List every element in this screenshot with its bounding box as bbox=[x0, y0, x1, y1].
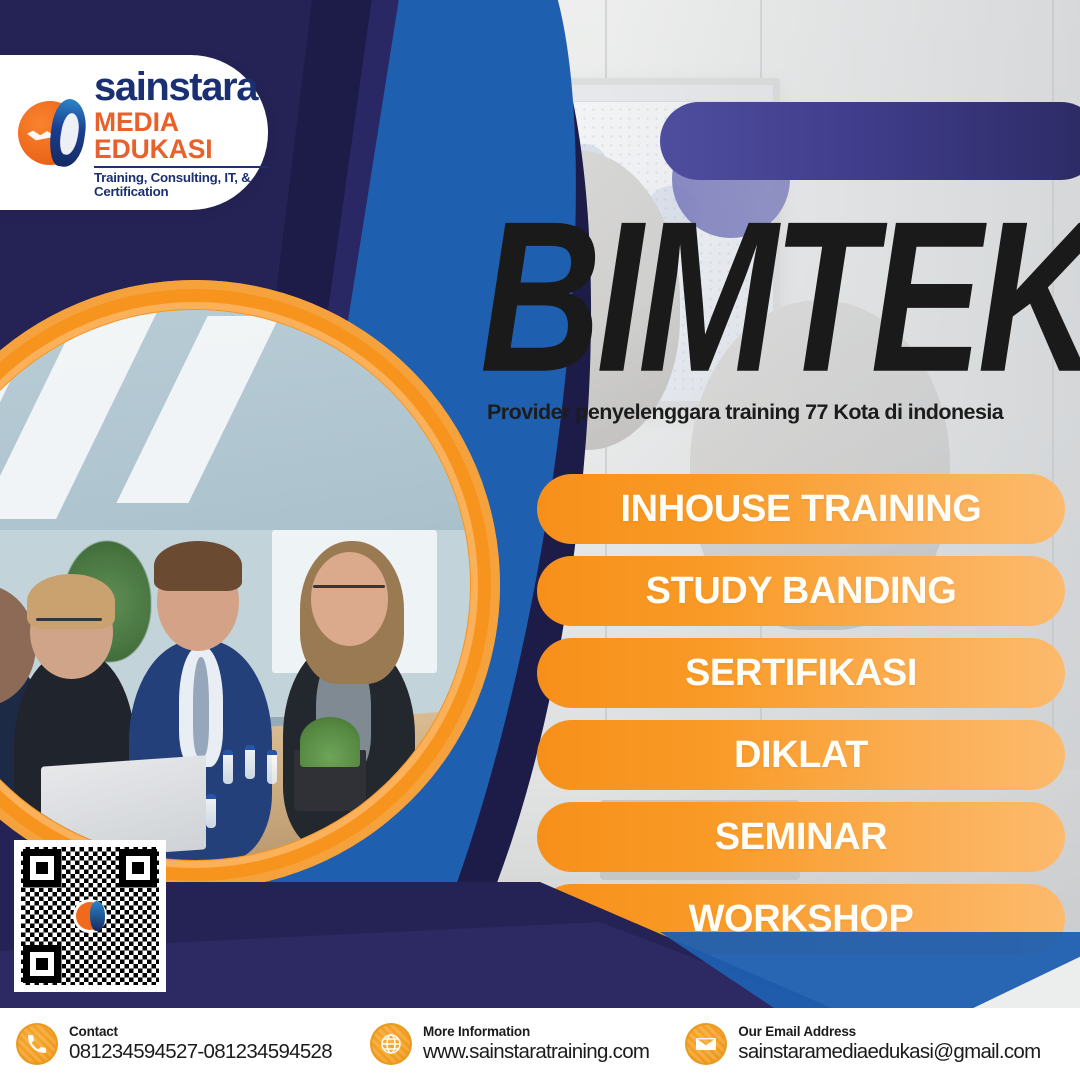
photo-person-4-head bbox=[311, 552, 388, 646]
qr-code[interactable] bbox=[14, 840, 166, 992]
photo-person-4-glasses bbox=[313, 585, 385, 588]
photo-plant-grass bbox=[300, 717, 361, 767]
brand-logo[interactable]: sainstara MEDIA EDUKASI Training, Consul… bbox=[0, 55, 268, 210]
photo-plant-pot bbox=[294, 750, 366, 811]
photo-whiteboard bbox=[272, 530, 437, 673]
globe-icon bbox=[370, 1023, 412, 1065]
footer-more-information[interactable]: More Information www.sainstaratraining.c… bbox=[370, 1023, 649, 1065]
service-list: INHOUSE TRAINING STUDY BANDING SERTIFIKA… bbox=[537, 474, 1065, 954]
phone-icon bbox=[16, 1023, 58, 1065]
photo-person-2-hair bbox=[27, 574, 115, 629]
brand-name-primary: sainstara bbox=[94, 67, 268, 107]
footer-bar: Contact 081234594527-081234594528 More I… bbox=[0, 1008, 1080, 1080]
photo-person-3-tie bbox=[193, 657, 210, 756]
service-button-seminar[interactable]: SEMINAR bbox=[537, 802, 1065, 872]
brand-name-secondary: MEDIA EDUKASI bbox=[94, 109, 268, 162]
flame-globe-logo-icon bbox=[18, 101, 82, 165]
qr-finder-bottom-left bbox=[23, 945, 61, 983]
poster-canvas: World Busine BIMTEK Provider penyelengga… bbox=[0, 0, 1080, 1080]
footer-email-value: sainstaramediaedukasi@gmail.com bbox=[738, 1040, 1040, 1064]
photo-person-2-glasses bbox=[36, 618, 102, 621]
meeting-photo bbox=[0, 310, 470, 860]
photo-skylight bbox=[116, 316, 279, 503]
photo-bottle bbox=[245, 745, 255, 779]
photo-skylight bbox=[0, 321, 40, 541]
photo-person-3-hair bbox=[154, 541, 242, 591]
footer-contact-label: Contact bbox=[69, 1024, 332, 1040]
photo-person-3-head bbox=[157, 552, 240, 651]
photo-person-3-shirt bbox=[179, 646, 223, 767]
brand-tagline: Training, Consulting, IT, & Certificatio… bbox=[94, 171, 268, 198]
qr-finder-top-left bbox=[23, 849, 61, 887]
header-accent-pill bbox=[660, 102, 1080, 180]
photo-plant bbox=[63, 541, 151, 662]
sainstara-logo-icon bbox=[76, 902, 104, 930]
photo-wall bbox=[0, 530, 470, 717]
photo-person-2-head bbox=[30, 585, 113, 679]
page-subtitle: Provider penyelenggara training 77 Kota … bbox=[487, 400, 1067, 425]
photo-person-3 bbox=[129, 640, 272, 860]
photo-bottle bbox=[223, 750, 233, 784]
photo-bottle bbox=[267, 750, 277, 784]
footer-contact-value: 081234594527-081234594528 bbox=[69, 1040, 332, 1064]
service-button-study-banding[interactable]: STUDY BANDING bbox=[537, 556, 1065, 626]
footer-email-label: Our Email Address bbox=[738, 1024, 1040, 1040]
photo-person-4-shirt bbox=[316, 651, 371, 772]
service-button-diklat[interactable]: DIKLAT bbox=[537, 720, 1065, 790]
photo-bottle bbox=[206, 794, 216, 828]
photo-ceiling bbox=[0, 310, 470, 552]
meeting-photo-ring bbox=[0, 280, 500, 890]
envelope-icon bbox=[685, 1023, 727, 1065]
brand-logo-text: sainstara MEDIA EDUKASI Training, Consul… bbox=[94, 67, 268, 198]
footer-email[interactable]: Our Email Address sainstaramediaedukasi@… bbox=[685, 1023, 1040, 1065]
photo-person-1-head bbox=[0, 585, 36, 706]
photo-person-4 bbox=[283, 640, 415, 849]
footer-info-label: More Information bbox=[423, 1024, 649, 1040]
footer-contact[interactable]: Contact 081234594527-081234594528 bbox=[16, 1023, 332, 1065]
qr-center-logo bbox=[73, 899, 107, 933]
service-button-sertifikasi[interactable]: SERTIFIKASI bbox=[537, 638, 1065, 708]
photo-person-4-hair bbox=[300, 541, 405, 684]
photo-person-2 bbox=[14, 651, 135, 860]
brand-divider bbox=[94, 166, 268, 168]
service-button-inhouse-training[interactable]: INHOUSE TRAINING bbox=[537, 474, 1065, 544]
qr-pattern bbox=[21, 847, 159, 985]
footer-info-value: www.sainstaratraining.com bbox=[423, 1040, 649, 1064]
qr-finder-top-right bbox=[119, 849, 157, 887]
page-title: BIMTEK bbox=[480, 198, 1080, 396]
